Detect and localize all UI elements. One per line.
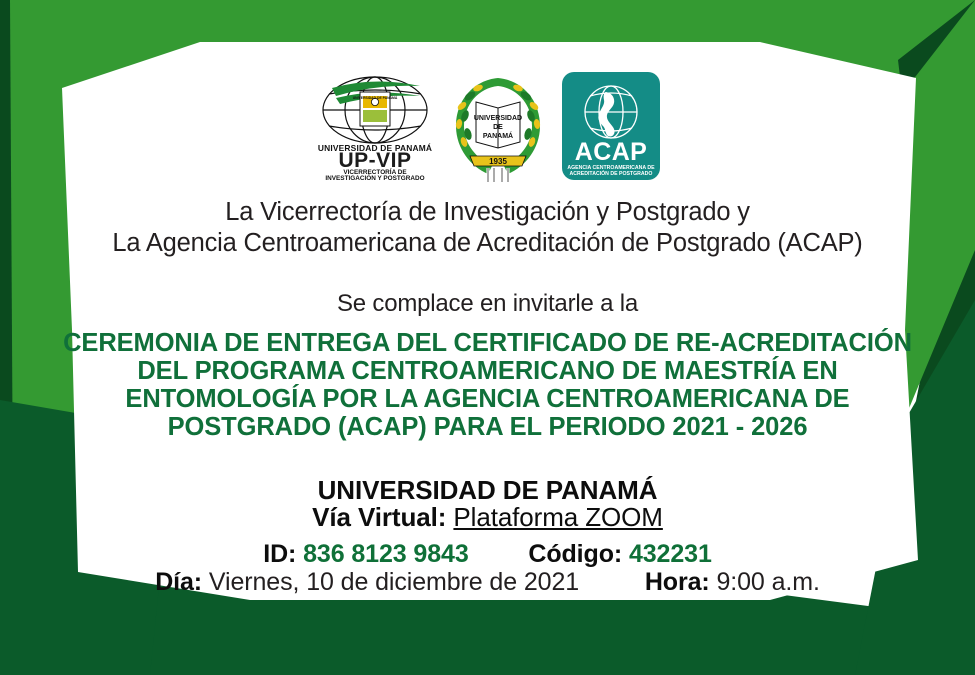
invitation-content: UNIVERSIDAD DE PANAMÁ UNIVERSIDAD DE PAN… bbox=[0, 0, 975, 675]
meeting-id-value: 836 8123 9843 bbox=[303, 540, 469, 568]
meeting-credentials-row: ID: 836 8123 9843 Código: 432231 bbox=[0, 539, 975, 569]
via-virtual-label: Vía Virtual: bbox=[312, 502, 446, 532]
seal-line3: PANAMÁ bbox=[482, 131, 512, 140]
universidad-de-panama-seal: UNIVERSIDAD DE PANAMÁ 1935 bbox=[448, 72, 548, 184]
seal-line2: DE bbox=[493, 124, 503, 131]
ceremony-title: CEREMONIA DE ENTREGA DEL CERTIFICADO DE … bbox=[0, 329, 975, 441]
logo-row: UNIVERSIDAD DE PANAMÁ UNIVERSIDAD DE PAN… bbox=[0, 72, 975, 184]
invitation-lead: Se complace en invitarle a la bbox=[0, 289, 975, 318]
zoom-platform-link[interactable]: Plataforma ZOOM bbox=[453, 502, 662, 532]
meeting-code-value: 432231 bbox=[629, 540, 712, 568]
acap-line2: ACREDITACIÓN DE POSTGRADO bbox=[569, 169, 652, 177]
meeting-id-label: ID: bbox=[263, 540, 296, 568]
invitation-page: UNIVERSIDAD DE PANAMÁ UNIVERSIDAD DE PAN… bbox=[0, 0, 975, 675]
up-vip-logo: UNIVERSIDAD DE PANAMÁ UNIVERSIDAD DE PAN… bbox=[316, 72, 434, 180]
acap-acronym: ACAP bbox=[574, 138, 646, 166]
seal-year: 1935 bbox=[489, 157, 507, 166]
time-value: 9:00 a.m. bbox=[716, 568, 819, 596]
up-vip-seal-text: UNIVERSIDAD DE PANAMÁ bbox=[352, 95, 397, 100]
time-label: Hora: bbox=[645, 568, 710, 596]
intro-block: La Vicerrectoría de Investigación y Post… bbox=[0, 197, 975, 259]
day-label: Día: bbox=[155, 568, 202, 596]
intro-line-1: La Vicerrectoría de Investigación y Post… bbox=[0, 197, 975, 228]
acap-logo: ACAP AGENCIA CENTROAMERICANA DE ACREDITA… bbox=[562, 72, 660, 180]
seal-line1: UNIVERSIDAD bbox=[473, 115, 521, 122]
ceremony-line-4: POSTGRADO (ACAP) PARA EL PERIODO 2021 - … bbox=[0, 413, 975, 441]
day-value: Viernes, 10 de diciembre de 2021 bbox=[209, 568, 579, 596]
up-vip-line4: INVESTIGACIÓN Y POSTGRADO bbox=[325, 173, 424, 180]
meeting-code-label: Código: bbox=[528, 540, 622, 568]
ceremony-line-2: DEL PROGRAMA CENTROAMERICANO DE MAESTRÍA… bbox=[0, 357, 975, 385]
ceremony-line-3: ENTOMOLOGÍA POR LA AGENCIA CENTROAMERICA… bbox=[0, 385, 975, 413]
intro-line-2: La Agencia Centroamericana de Acreditaci… bbox=[0, 228, 975, 259]
ceremony-line-1: CEREMONIA DE ENTREGA DEL CERTIFICADO DE … bbox=[0, 329, 975, 357]
meeting-datetime-row: Día: Viernes, 10 de diciembre de 2021 Ho… bbox=[0, 567, 975, 597]
virtual-platform-line: Vía Virtual: Plataforma ZOOM bbox=[0, 501, 975, 533]
